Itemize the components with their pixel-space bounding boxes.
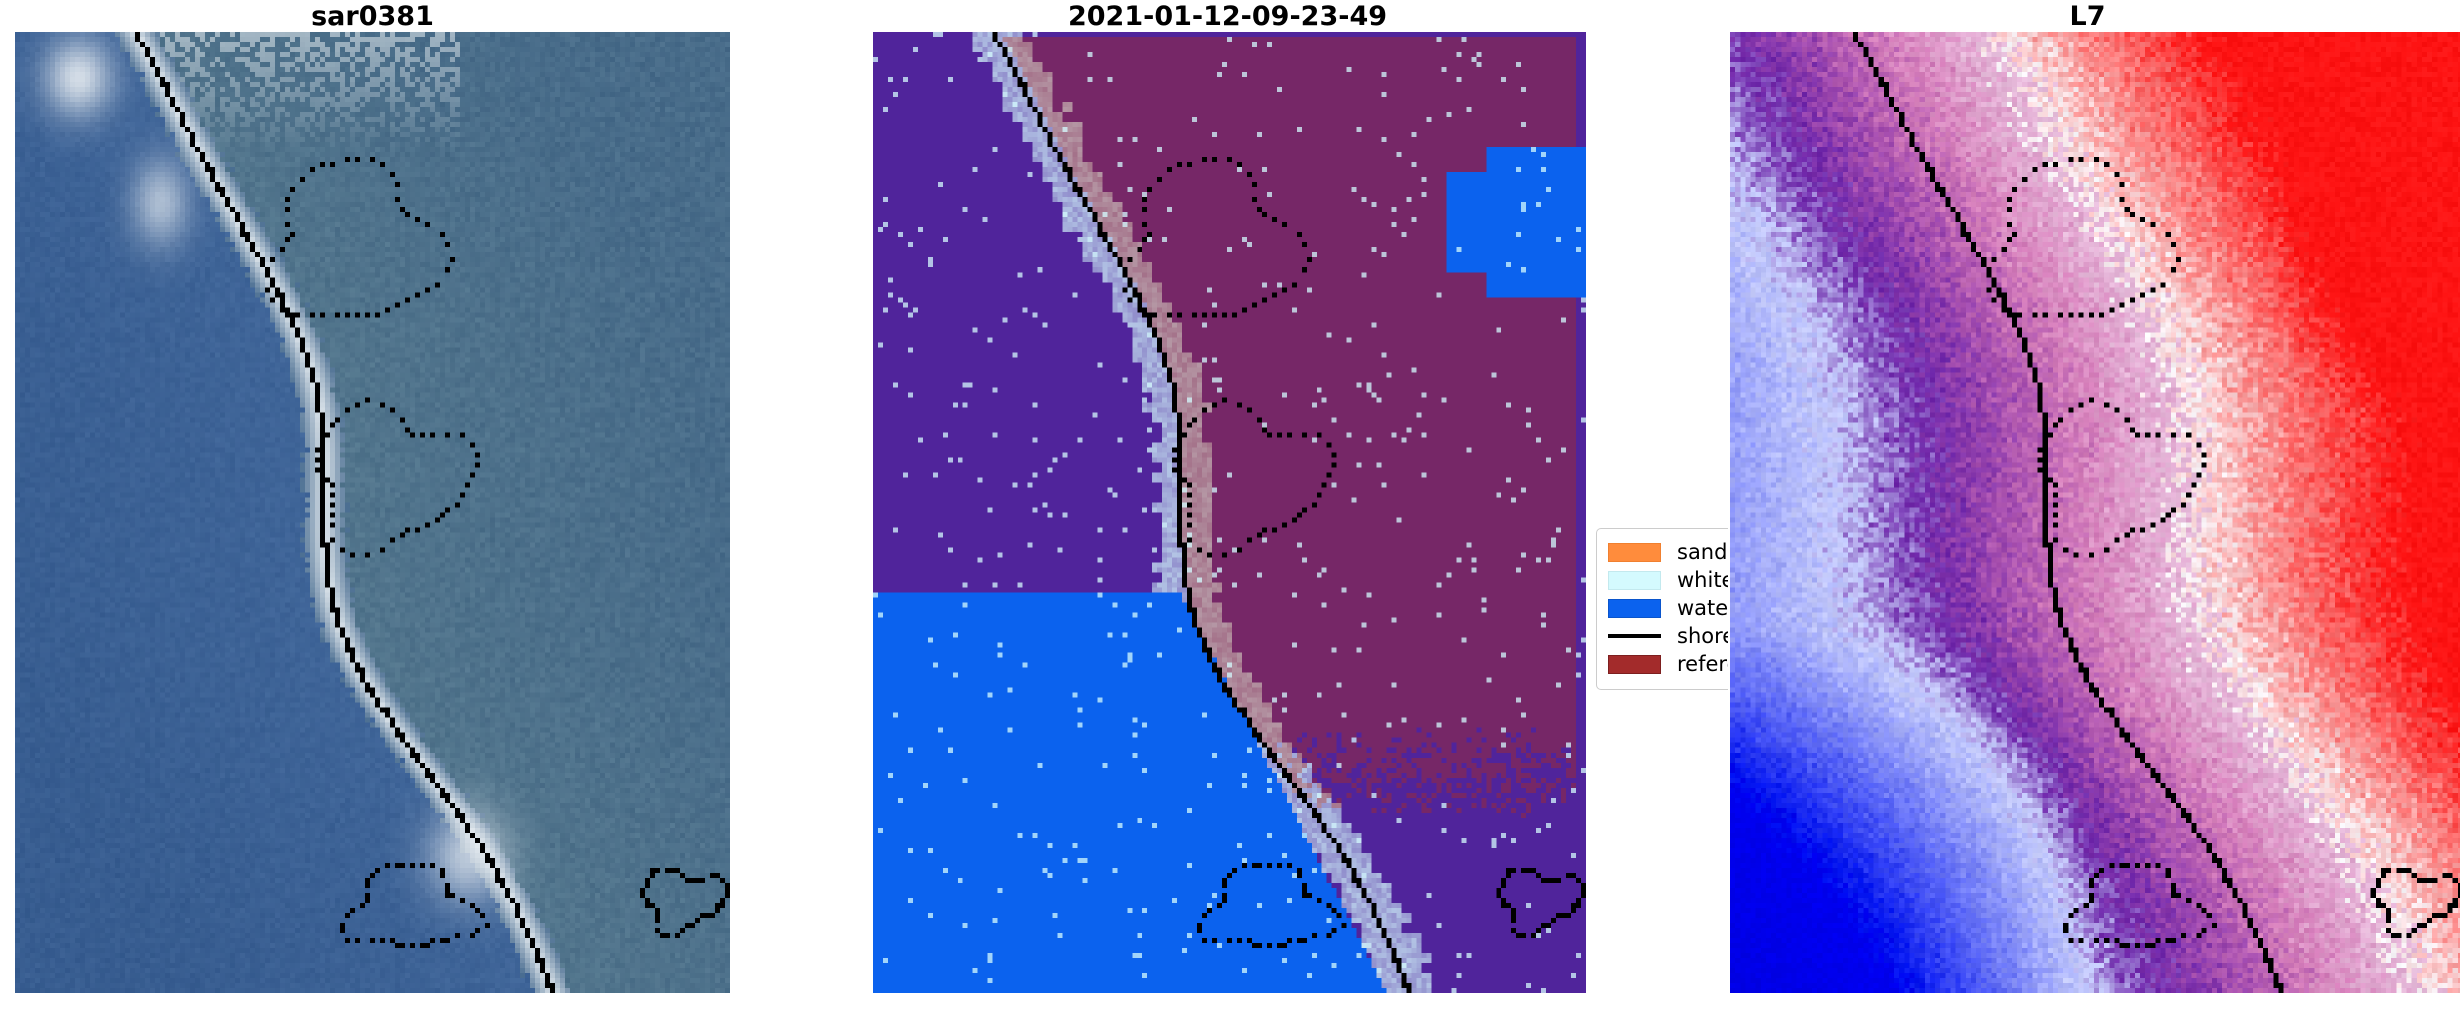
legend-label-sand: sand [1677, 542, 1727, 563]
legend-label-shoreline: shoreline [1677, 626, 1728, 647]
raster-l7[interactable] [1730, 32, 2460, 993]
legend-item-reference[interactable]: reference [1608, 650, 1728, 678]
legend-item-sand[interactable]: sand [1608, 538, 1728, 566]
raster-sar0381[interactable] [15, 32, 730, 993]
axes-classification[interactable] [873, 32, 1586, 993]
panel-classification: 2021-01-12-09-23-49 [855, 0, 1600, 1011]
legend-label-whitewater: whitewater [1677, 570, 1728, 591]
legend-swatch-sand-icon [1608, 543, 1661, 562]
legend-swatch-water-icon [1608, 599, 1661, 618]
axes-sar0381[interactable] [15, 32, 730, 993]
panel-sar0381: sar0381 [0, 0, 745, 1011]
panel-l7: L7 [1715, 0, 2460, 1011]
panel-title-classification: 2021-01-12-09-23-49 [855, 2, 1600, 32]
legend-box[interactable]: sand whitewater water shoreline referenc… [1596, 528, 1728, 690]
axes-l7[interactable] [1730, 32, 2460, 993]
legend-swatch-shoreline-icon [1608, 627, 1661, 646]
figure-canvas: sar0381 2021-01-12-09-23-49 L7 sand whit… [0, 0, 2460, 1011]
legend-swatch-reference-icon [1608, 655, 1661, 674]
legend-item-water[interactable]: water [1608, 594, 1728, 622]
legend-swatch-whitewater-icon [1608, 571, 1661, 590]
legend-clip: sand whitewater water shoreline referenc… [1596, 528, 1728, 694]
legend-label-reference: reference [1677, 654, 1728, 675]
legend-item-whitewater[interactable]: whitewater [1608, 566, 1728, 594]
legend-item-shoreline[interactable]: shoreline [1608, 622, 1728, 650]
panel-title-sar0381: sar0381 [0, 2, 745, 32]
panel-title-l7: L7 [1715, 2, 2460, 32]
legend-label-water: water [1677, 598, 1728, 619]
raster-classification[interactable] [873, 32, 1586, 993]
